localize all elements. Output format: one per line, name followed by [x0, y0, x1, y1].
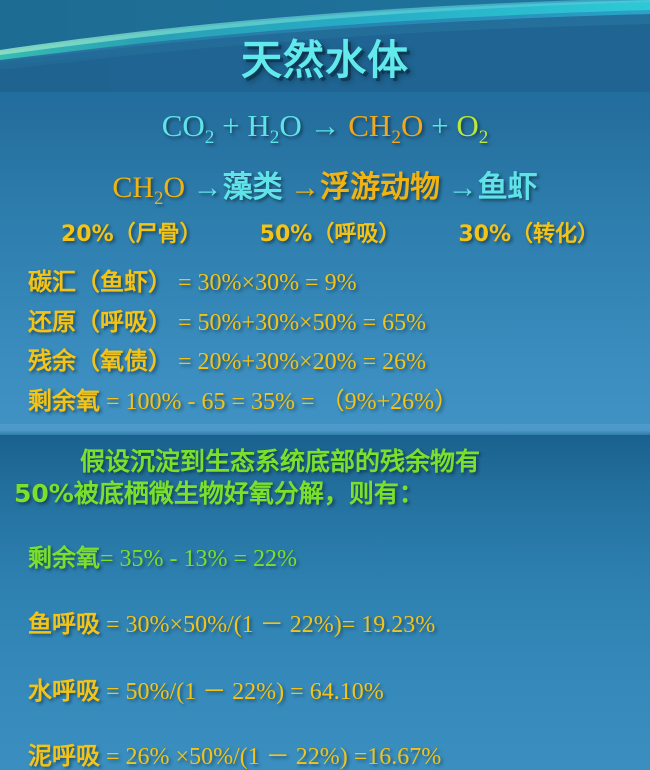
calculation-row: 残余（氧债） = 20%+30%×20% = 26% — [28, 341, 426, 376]
equation-co2: CO2 — [162, 108, 215, 143]
calc-expr-carbon-sink: = 30%×30% = 9% — [178, 270, 357, 296]
food-chain-arrow-3: → — [448, 171, 478, 204]
ch2o-subscript: 2 — [391, 127, 401, 148]
equation-o2: O2 — [456, 108, 488, 143]
slide-title: 天然水体 — [0, 26, 650, 86]
assumption-line-2: 50%被底栖微生物好氧分解，则有： — [14, 479, 424, 508]
food-chain-node-algae: 藻类 — [223, 170, 283, 205]
o2-subscript: 2 — [479, 127, 489, 148]
presentation-slide-pair: 天然水体 CO2 + H2O → CH2O + O2 CH2O →藻类 →浮游动… — [0, 0, 650, 770]
percent-bones: 20%（尸骨） — [61, 216, 202, 248]
percent-respiration: 50%（呼吸） — [260, 216, 401, 248]
food-chain-node-zooplankton: 浮游动物 — [320, 170, 440, 205]
food-chain-node-fish: 鱼虾 — [478, 170, 538, 205]
result-expr-fish-respiration: = 30%×50%/(1 － 22%)= 19.23% — [106, 612, 435, 638]
result-expr-mud-respiration: = 26% ×50%/(1 － 22%) =16.67% — [106, 744, 441, 770]
equation-ch2o: CH2O — [348, 108, 423, 143]
assumption-line-1: 假设沉淀到生态系统底部的残余物有 — [80, 447, 480, 476]
result-expr-water-respiration: = 50%/(1 － 22%) = 64.10% — [106, 679, 384, 705]
calculation-row: 剩余氧 = 100% - 65 = 35% = （9%+26%） — [28, 381, 458, 416]
slide-top: 天然水体 CO2 + H2O → CH2O + O2 CH2O →藻类 →浮游动… — [0, 0, 650, 424]
percent-conversion: 30%（转化） — [458, 216, 599, 248]
result-row-mud-respiration: 泥呼吸 = 26% ×50%/(1 － 22%) =16.67% — [28, 736, 441, 770]
equation-plus-1: + — [222, 108, 239, 143]
result-label-mud-respiration: 泥呼吸 — [28, 742, 100, 770]
equation-arrow: → — [310, 108, 341, 143]
co2-subscript: 2 — [205, 127, 215, 148]
calc-label-reduction: 还原（呼吸） — [28, 308, 172, 336]
calc-label-surplus-oxygen: 剩余氧 — [28, 387, 100, 415]
result-label-surplus-oxygen: 剩余氧 — [28, 544, 100, 572]
panel-divider — [0, 424, 650, 435]
result-label-fish-respiration: 鱼呼吸 — [28, 610, 100, 638]
slide-bottom: 假设沉淀到生态系统底部的残余物有 50%被底栖微生物好氧分解，则有： 剩余氧= … — [0, 424, 650, 770]
photosynthesis-equation: CO2 + H2O → CH2O + O2 — [0, 108, 650, 149]
result-row-water-respiration: 水呼吸 = 50%/(1 － 22%) = 64.10% — [28, 671, 384, 706]
food-chain-diagram: CH2O →藻类 →浮游动物 →鱼虾 — [0, 162, 650, 210]
calc-expr-reduction: = 50%+30%×50% = 65% — [178, 310, 426, 336]
calc-label-carbon-sink: 碳汇（鱼虾） — [28, 268, 172, 296]
calc-expr-surplus-oxygen: = 100% - 65 = 35% = （9%+26%） — [106, 389, 458, 415]
percentage-row: 20%（尸骨） 50%（呼吸） 30%（转化） — [0, 216, 650, 248]
assumption-paragraph: 假设沉淀到生态系统底部的残余物有 50%被底栖微生物好氧分解，则有： — [14, 446, 638, 510]
result-row-fish-respiration: 鱼呼吸 = 30%×50%/(1 － 22%)= 19.23% — [28, 604, 435, 639]
food-chain-arrow-1: → — [193, 171, 223, 204]
calculation-row: 碳汇（鱼虾） = 30%×30% = 9% — [28, 262, 357, 297]
h2o-subscript: 2 — [270, 127, 280, 148]
food-chain-ch2o: CH2O — [112, 171, 185, 204]
calculation-row: 还原（呼吸） = 50%+30%×50% = 65% — [28, 302, 426, 337]
result-row-surplus-oxygen: 剩余氧= 35% - 13% = 22% — [28, 538, 297, 573]
food-chain-subscript: 2 — [154, 188, 163, 209]
equation-h2o: H2O — [247, 108, 301, 143]
food-chain-arrow-2: → — [290, 171, 320, 204]
equation-plus-2: + — [431, 108, 448, 143]
result-expr-surplus-oxygen: = 35% - 13% = 22% — [100, 546, 297, 572]
result-label-water-respiration: 水呼吸 — [28, 677, 100, 705]
calc-expr-residue: = 20%+30%×20% = 26% — [178, 349, 426, 375]
calc-label-residue: 残余（氧债） — [28, 347, 172, 375]
